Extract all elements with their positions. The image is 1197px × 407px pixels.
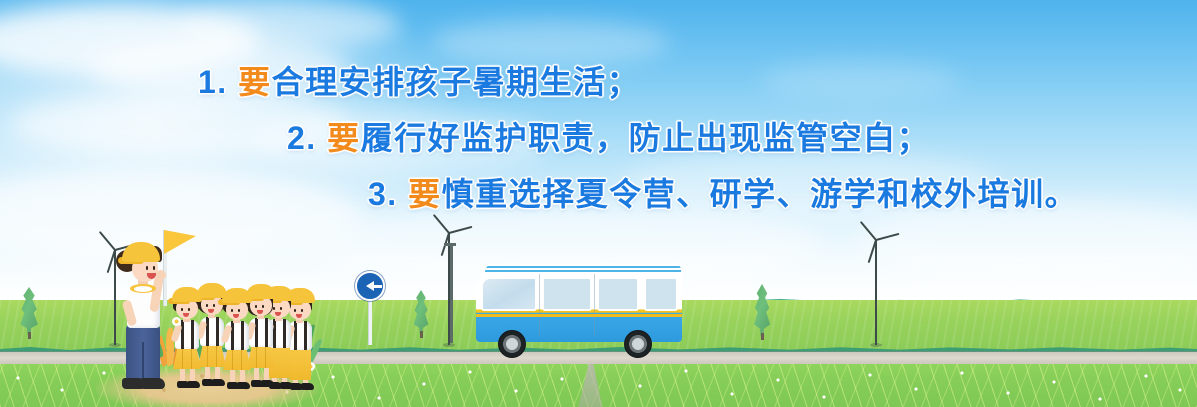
child-shoe xyxy=(187,381,200,388)
child-figure xyxy=(222,288,254,389)
bus-roof xyxy=(485,264,681,273)
line-3-text: 慎重选择夏令营、研学、游学和校外培训。 xyxy=(442,176,1079,212)
child-eye xyxy=(206,304,208,307)
bus-panel-seam xyxy=(539,274,540,336)
road-sign xyxy=(355,271,385,345)
child-strap xyxy=(181,320,184,349)
bus-panel-seam xyxy=(594,274,595,336)
child-eye xyxy=(213,304,215,307)
wind-turbine xyxy=(861,240,891,345)
turbine-base xyxy=(443,343,455,347)
line-2-highlight: 要 xyxy=(327,120,361,156)
child-cap xyxy=(222,288,252,303)
coach-bus xyxy=(476,258,682,358)
turbine-base xyxy=(870,343,882,347)
child-cap xyxy=(172,287,202,302)
child-eye xyxy=(262,305,264,308)
child-figure xyxy=(172,287,204,389)
child-shoe xyxy=(261,380,274,387)
child-strap xyxy=(216,317,219,346)
child-skirt-pleat xyxy=(265,344,266,368)
reminder-text-block: 1. 要合理安排孩子暑期生活； 2. 要履行好监护职责，防止出现监管空白； 3.… xyxy=(0,0,1197,240)
teacher-hand xyxy=(156,270,166,280)
child-skirt-pleat xyxy=(256,344,257,368)
child-eye xyxy=(181,308,183,311)
cypress-tree xyxy=(750,284,774,336)
teacher-eye xyxy=(146,266,148,270)
reminder-line-1: 1. 要合理安排孩子暑期生活； xyxy=(198,57,640,103)
reminder-line-3: 3. 要慎重选择夏令营、研学、游学和校外培训。 xyxy=(368,169,1078,215)
child-strap xyxy=(191,320,194,349)
child-strap xyxy=(231,321,234,350)
tree-trunk xyxy=(28,332,31,339)
bus-window xyxy=(597,277,639,311)
turbine-mast xyxy=(875,240,877,345)
child-eye xyxy=(188,308,190,311)
wind-turbine xyxy=(434,233,464,345)
teacher-jeans-seam xyxy=(142,342,144,382)
child-strap xyxy=(283,319,286,348)
child-eye xyxy=(301,309,303,312)
tree-crown xyxy=(16,287,42,335)
child-strap xyxy=(265,318,268,347)
tree-crown xyxy=(410,290,432,334)
child-strap xyxy=(206,317,209,346)
line-2-number: 2. xyxy=(287,120,317,156)
child-skirt-pleat xyxy=(216,343,217,367)
arrow-glyph xyxy=(366,281,374,291)
bus-wheel xyxy=(624,330,652,358)
child-shoe xyxy=(237,382,250,389)
line-2-text: 履行好监护职责，防止出现监管空白； xyxy=(361,120,931,156)
sign-post xyxy=(368,295,372,345)
child-strap xyxy=(241,321,244,350)
child-eye xyxy=(280,307,282,310)
line-3-highlight: 要 xyxy=(408,176,442,212)
daisy-flower xyxy=(172,317,181,326)
child-strap xyxy=(255,318,258,347)
child-shoe xyxy=(301,383,314,390)
reminder-line-2: 2. 要履行好监护职责，防止出现监管空白； xyxy=(287,113,930,159)
tree-trunk xyxy=(420,331,423,338)
child-eye xyxy=(231,309,233,312)
teacher-eye xyxy=(153,266,155,270)
teacher-cap xyxy=(122,242,160,262)
summer-safety-banner: 1. 要合理安排孩子暑期生活； 2. 要履行好监护职责，防止出现监管空白； 3.… xyxy=(0,0,1197,407)
left-arrow-icon xyxy=(355,271,385,301)
child-eye xyxy=(238,309,240,312)
teacher-figure xyxy=(108,224,176,396)
child-eye xyxy=(255,305,257,308)
child-skirt-pleat xyxy=(207,343,208,367)
line-1-highlight: 要 xyxy=(238,64,272,100)
street-lamp-pole xyxy=(450,243,453,343)
child-strap xyxy=(304,321,307,350)
teacher-arm-raised xyxy=(149,276,164,313)
tree-trunk xyxy=(761,333,764,340)
cypress-tree xyxy=(410,290,432,334)
bus-wheel xyxy=(498,330,526,358)
line-1-number: 1. xyxy=(198,64,228,100)
teacher-shoe xyxy=(140,378,165,389)
line-3-number: 3. xyxy=(368,176,398,212)
line-1-text: 合理安排孩子暑期生活； xyxy=(272,64,641,100)
child-shoe xyxy=(280,382,293,389)
teacher-collar-inner xyxy=(134,286,152,292)
cypress-tree xyxy=(16,287,42,335)
bus-window xyxy=(644,277,678,311)
bus-yellow-stripe xyxy=(476,314,682,317)
street-lamp-arm xyxy=(444,243,456,246)
bus-window xyxy=(542,277,592,311)
tree-crown xyxy=(750,284,774,336)
bus-windshield xyxy=(481,277,537,311)
